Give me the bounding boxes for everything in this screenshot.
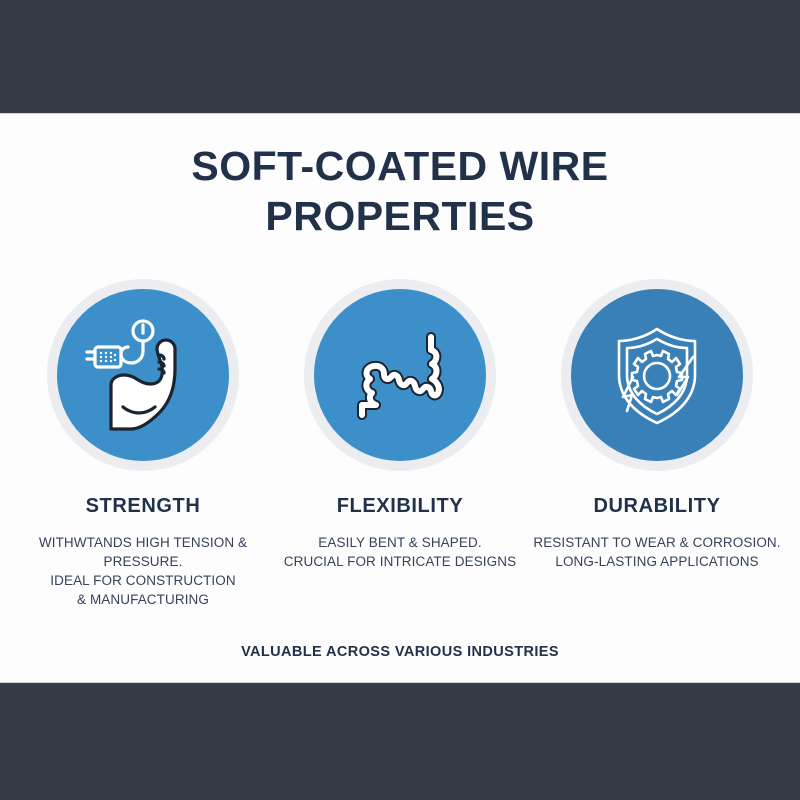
icon-badge-durability: [561, 279, 753, 471]
title-line-1: SOFT-COATED WIRE: [191, 143, 608, 189]
desc-line-1: WITHWTANDS HIGH TENSION & PRESSURE.: [11, 533, 276, 571]
property-description: RESISTANT TO WEAR & CORROSION. LONG-LAST…: [525, 533, 790, 571]
top-dark-band: [0, 0, 800, 113]
desc-line-1: RESISTANT TO WEAR & CORROSION.: [525, 533, 790, 552]
desc-line-2: IDEAL FOR CONSTRUCTION: [11, 571, 276, 590]
desc-line-3: & MANUFACTURING: [11, 590, 276, 609]
icon-disc: [571, 289, 743, 461]
property-column-strength: STRENGTH WITHWTANDS HIGH TENSION & PRESS…: [18, 279, 268, 609]
icon-disc: [57, 289, 229, 461]
property-column-durability: DURABILITY RESISTANT TO WEAR & CORROSION…: [532, 279, 782, 609]
shield-gear-lightning-icon: [593, 311, 721, 439]
property-column-flexibility: FLEXIBILITY EASILY BENT & SHAPED. CRUCIA…: [275, 279, 525, 609]
icon-badge-strength: [47, 279, 239, 471]
property-description: WITHWTANDS HIGH TENSION & PRESSURE. IDEA…: [11, 533, 276, 609]
icon-disc: [314, 289, 486, 461]
infographic-poster: SOFT-COATED WIRE PROPERTIES: [0, 0, 800, 800]
flexed-bicep-hook-icon: [79, 311, 207, 439]
property-description: EASILY BENT & SHAPED. CRUCIAL FOR INTRIC…: [268, 533, 533, 571]
desc-line-1: EASILY BENT & SHAPED.: [268, 533, 533, 552]
squiggly-wire-icon: [336, 311, 464, 439]
page-title: SOFT-COATED WIRE PROPERTIES: [0, 141, 800, 241]
footer-tagline: VALUABLE ACROSS VARIOUS INDUSTRIES: [0, 644, 800, 660]
content-card: SOFT-COATED WIRE PROPERTIES: [0, 113, 800, 683]
bottom-dark-band: [0, 683, 800, 800]
title-line-2: PROPERTIES: [0, 191, 800, 241]
property-heading: STRENGTH: [86, 495, 201, 518]
property-heading: FLEXIBILITY: [337, 495, 464, 518]
icon-badge-flexibility: [304, 279, 496, 471]
property-columns: STRENGTH WITHWTANDS HIGH TENSION & PRESS…: [0, 279, 800, 609]
desc-line-2: CRUCIAL FOR INTRICATE DESIGNS: [268, 552, 533, 571]
property-heading: DURABILITY: [593, 495, 720, 518]
desc-line-2: LONG-LASTING APPLICATIONS: [525, 552, 790, 571]
